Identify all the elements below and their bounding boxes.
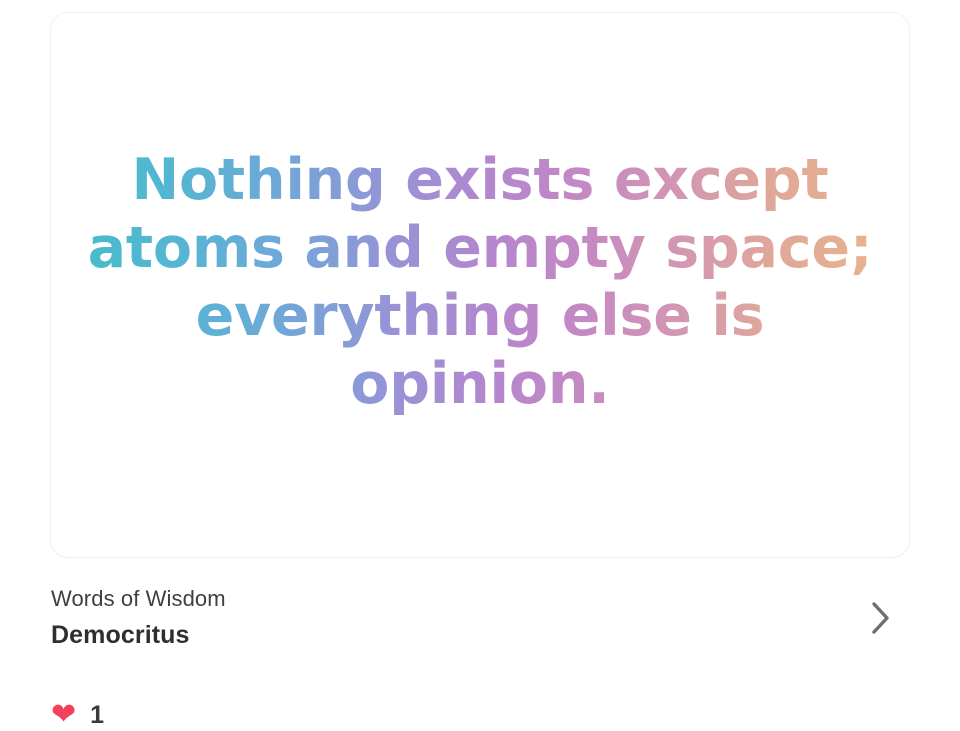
quote-category-label: Words of Wisdom (51, 584, 226, 614)
quote-meta-row[interactable]: Words of Wisdom Democritus (51, 584, 911, 652)
quote-text: Nothing exists except atoms and empty sp… (80, 146, 880, 418)
quote-line-2: atoms and empty space; (80, 214, 880, 282)
reaction-count: 1 (90, 700, 104, 730)
quote-card[interactable]: Nothing exists except atoms and empty sp… (50, 12, 910, 558)
quote-line-3: everything else is opinion. (80, 282, 880, 418)
quote-meta-text: Words of Wisdom Democritus (51, 584, 226, 652)
heart-icon[interactable]: ❤ (51, 700, 76, 730)
next-quote-button[interactable] (859, 596, 903, 640)
quote-line-1: Nothing exists except (80, 146, 880, 214)
reaction-bar[interactable]: ❤ 1 (51, 700, 104, 730)
quote-author-label: Democritus (51, 618, 226, 652)
quote-screen: Nothing exists except atoms and empty sp… (0, 0, 960, 728)
chevron-right-icon (870, 601, 892, 635)
